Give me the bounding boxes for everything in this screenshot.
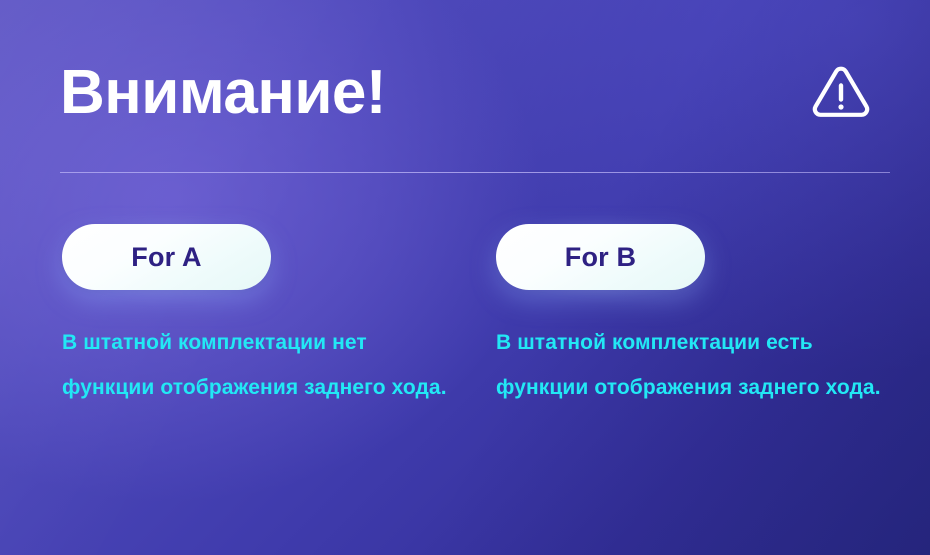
option-column-for-b: For B В штатной комплектации есть функци…	[496, 210, 896, 276]
warning-triangle-icon	[812, 66, 870, 120]
for-b-description: В штатной комплектации есть функции отоб…	[496, 320, 888, 410]
for-a-button[interactable]: For A	[62, 224, 271, 290]
slide-header: Внимание!	[60, 54, 890, 136]
pill-wrapper-for-a: For A	[62, 210, 271, 276]
for-a-description: В штатной комплектации нет функции отобр…	[62, 320, 450, 410]
page-title: Внимание!	[60, 54, 386, 132]
for-b-button-label: For B	[565, 244, 637, 271]
for-a-button-label: For A	[131, 244, 202, 271]
header-divider	[60, 172, 890, 173]
warning-slide: Внимание! For A В штатной комплектации н…	[0, 0, 930, 555]
option-column-for-a: For A В штатной комплектации нет функции…	[62, 210, 462, 276]
pill-wrapper-for-b: For B	[496, 210, 705, 276]
for-b-button[interactable]: For B	[496, 224, 705, 290]
